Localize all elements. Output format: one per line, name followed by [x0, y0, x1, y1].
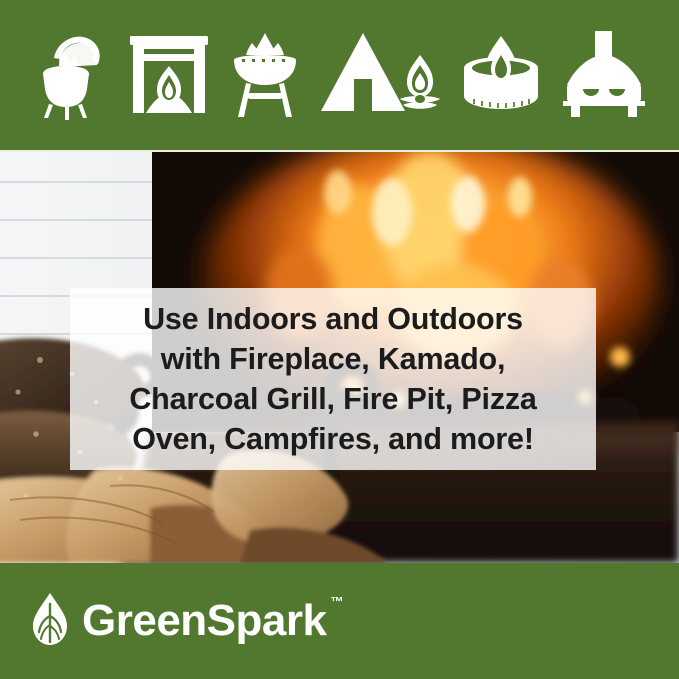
use-case-icon-band — [0, 0, 679, 150]
pizza-oven-icon — [561, 27, 647, 124]
fire-pit-icon — [461, 30, 541, 121]
brand-logo: GreenSpark ™ — [30, 592, 326, 651]
product-feature-card: Use Indoors and Outdoors with Fireplace,… — [0, 0, 679, 679]
green-flame-leaf-icon — [30, 592, 70, 651]
brand-logo-band: GreenSpark ™ — [0, 563, 679, 679]
brand-wordmark: GreenSpark ™ — [82, 599, 326, 643]
fireplace-firewood-photo: Use Indoors and Outdoors with Fireplace,… — [0, 152, 679, 563]
tent-campfire-icon — [319, 27, 441, 124]
charcoal-grill-icon — [230, 27, 300, 124]
marketing-text-overlay: Use Indoors and Outdoors with Fireplace,… — [70, 288, 596, 470]
brand-name-text: GreenSpark — [82, 596, 326, 645]
headline-text: Use Indoors and Outdoors with Fireplace,… — [119, 299, 546, 459]
trademark-symbol: ™ — [330, 595, 343, 608]
kamado-grill-icon — [32, 25, 108, 126]
fireplace-icon — [128, 30, 210, 121]
